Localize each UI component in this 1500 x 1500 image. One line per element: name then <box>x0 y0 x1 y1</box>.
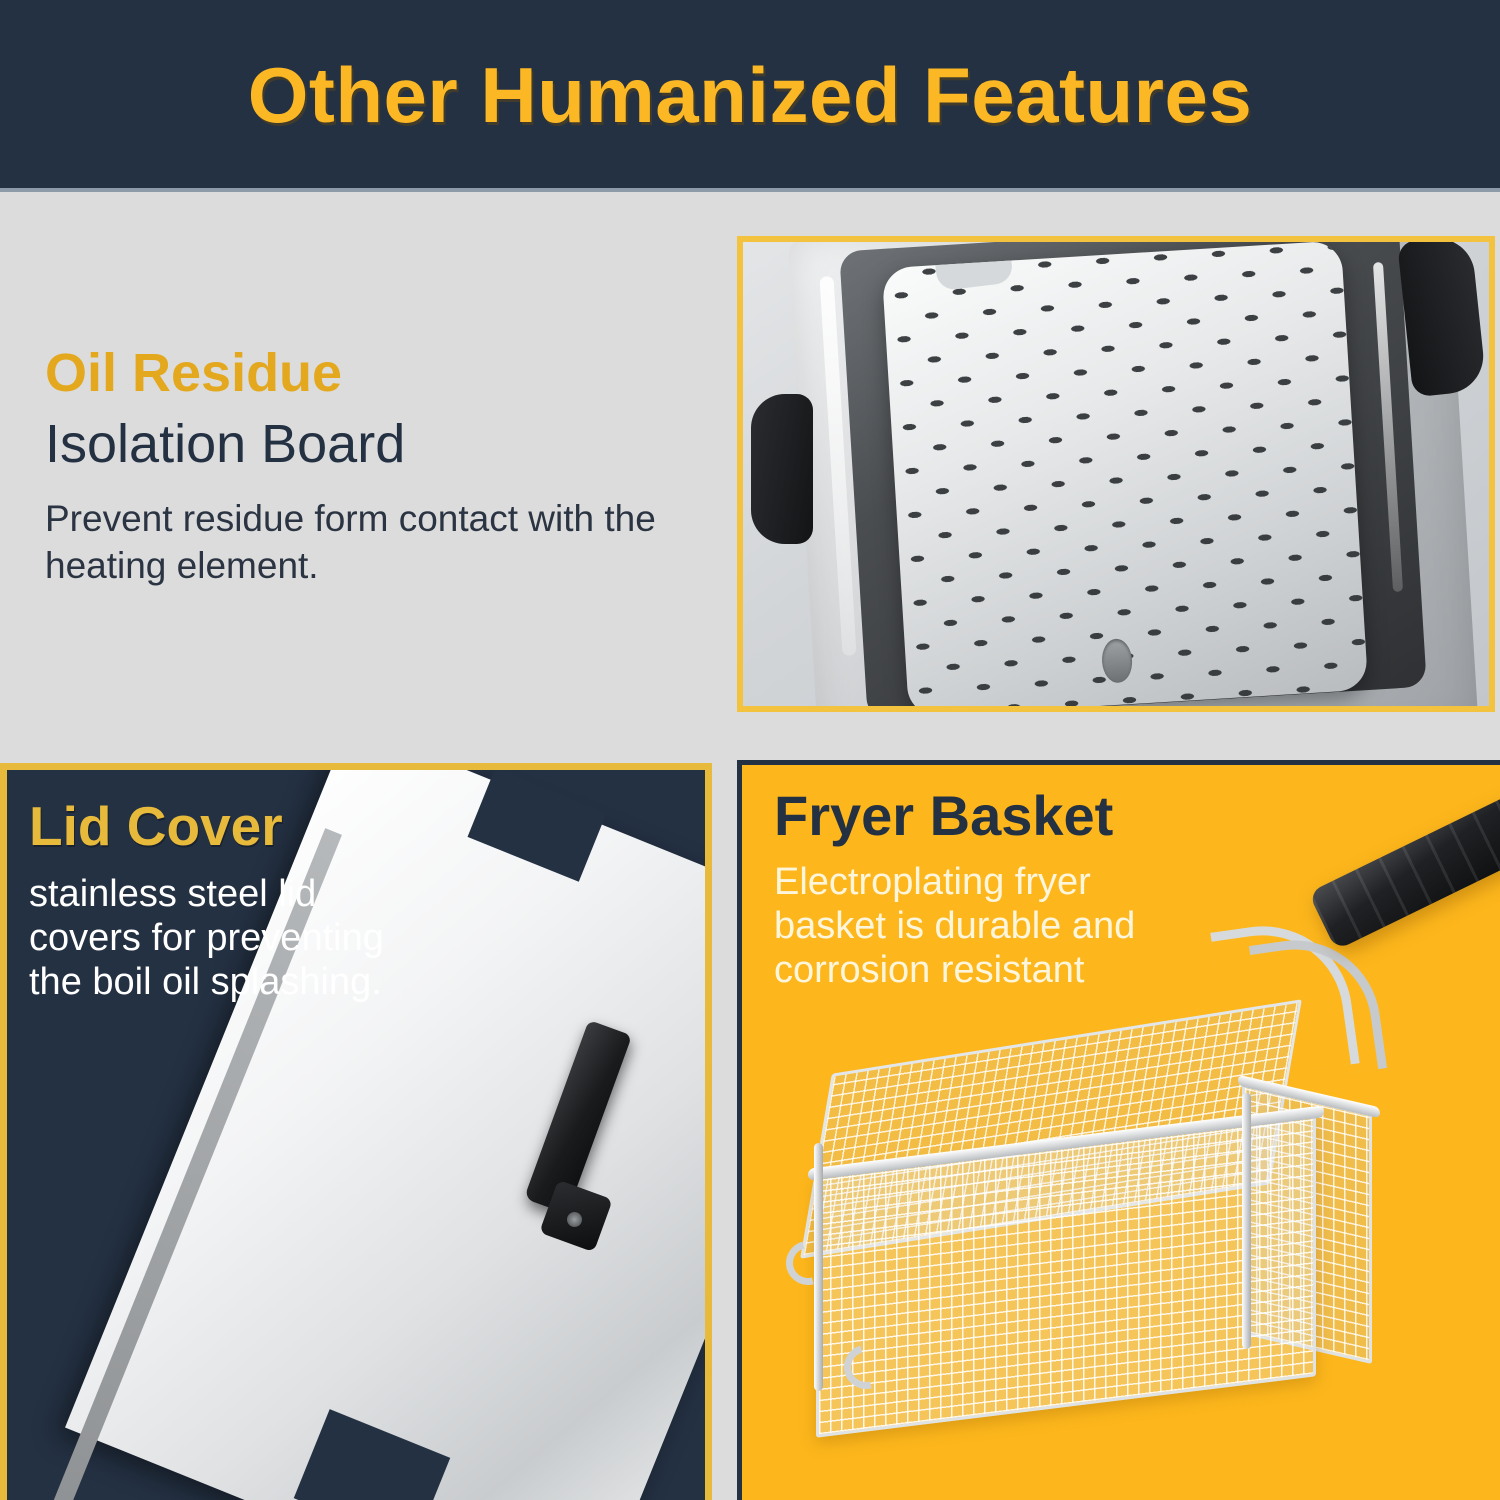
lid-cover-body: stainless steel lid covers for preventin… <box>29 872 389 1004</box>
fryer-basket-text-block: Fryer Basket Electroplating fryer basket… <box>774 787 1204 992</box>
lid-cover-panel: Lid Cover stainless steel lid covers for… <box>0 763 712 1500</box>
oil-residue-body: Prevent residue form contact with the he… <box>45 495 715 590</box>
tank-handle-right <box>1397 236 1487 397</box>
header-banner: Other Humanized Features <box>0 0 1500 190</box>
isolation-board-photo <box>743 242 1489 706</box>
lid-cover-text-block: Lid Cover stainless steel lid covers for… <box>29 798 389 1004</box>
oil-residue-kicker: Oil Residue <box>45 345 715 402</box>
infographic-page: Other Humanized Features Oil Residue Iso… <box>0 0 1500 1500</box>
oil-residue-subhead: Isolation Board <box>45 414 715 474</box>
fryer-basket-body: Electroplating fryer basket is durable a… <box>774 860 1204 992</box>
fryer-basket-illustration <box>790 1033 1390 1423</box>
basket-handle-arm-inner <box>1249 929 1387 1084</box>
perforated-isolation-plate <box>882 240 1369 712</box>
lid-cover-kicker: Lid Cover <box>29 798 389 856</box>
feature-oil-residue-text: Oil Residue Isolation Board Prevent resi… <box>45 345 715 589</box>
basket-corner-post-right <box>1242 1093 1251 1349</box>
basket-black-handle <box>1308 788 1500 951</box>
fryer-basket-kicker: Fryer Basket <box>774 787 1204 846</box>
fryer-basket-panel: Fryer Basket Electroplating fryer basket… <box>737 760 1500 1500</box>
isolation-board-image-panel <box>737 236 1495 712</box>
handle-grip-ridges <box>1308 788 1500 951</box>
header-divider <box>0 188 1500 192</box>
tank-handle-left <box>751 394 813 544</box>
page-title: Other Humanized Features <box>248 50 1253 141</box>
plate-perforations <box>882 240 1369 712</box>
